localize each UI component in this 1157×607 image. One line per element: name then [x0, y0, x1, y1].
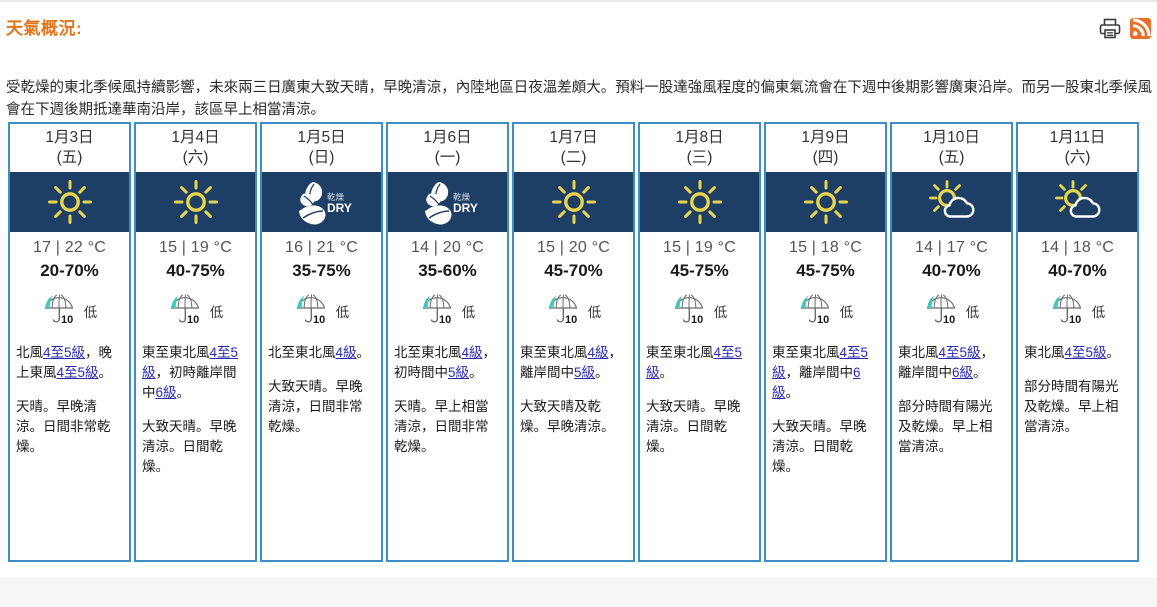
wind-text: 東至東北風 — [646, 345, 714, 360]
sunny-icon — [551, 179, 597, 225]
dry-icon: 乾燥DRY — [409, 178, 487, 226]
wind-text: 。 — [99, 365, 113, 380]
forecast-weekday: (日) — [264, 148, 379, 168]
temperature-range: 15 | 20 °C — [514, 232, 633, 259]
wind-force-link[interactable]: 5級 — [448, 365, 469, 380]
wind-force-link[interactable]: 6級 — [952, 365, 973, 380]
uv-index-row: 10低 — [136, 287, 255, 339]
weather-icon-band — [1018, 172, 1137, 232]
wind-force-link[interactable]: 6級 — [156, 385, 177, 400]
svg-text:10: 10 — [61, 314, 73, 325]
temperature-range: 16 | 21 °C — [262, 232, 381, 259]
forecast-weekday: (四) — [768, 148, 883, 168]
day-forecast-card[interactable]: 1月5日(日)乾燥DRY16 | 21 °C35-75%10低北至東北風4級。大… — [260, 122, 383, 562]
forecast-date-value: 1月8日 — [642, 128, 757, 148]
svg-text:10: 10 — [439, 314, 451, 325]
humidity-range: 35-75% — [262, 259, 381, 287]
svg-text:10: 10 — [187, 314, 199, 325]
wind-text: 。 — [595, 365, 609, 380]
svg-text:DRY: DRY — [453, 201, 478, 215]
header-icon-group — [1099, 18, 1151, 39]
wind-text: 東至東北風 — [772, 345, 840, 360]
weather-forecast-page: 天氣概況: 受乾燥的東北季候風持續影響，未 — [0, 0, 1157, 606]
uv-level-label: 低 — [84, 301, 98, 321]
forecast-description-block: 北至東北風4級。大致天晴。早晚清涼，日間非常乾燥。 — [262, 339, 381, 445]
forecast-weekday: (五) — [894, 148, 1009, 168]
bottom-band — [0, 578, 1157, 607]
forecast-date: 1月5日(日) — [262, 124, 381, 172]
wind-description: 東至東北風4至5級。 — [646, 343, 753, 383]
uv-level-label: 低 — [588, 301, 602, 321]
day-forecast-card[interactable]: 1月8日(三)15 | 19 °C45-75%10低東至東北風4至5級。大致天晴… — [638, 122, 761, 562]
uv-index-row: 10低 — [10, 287, 129, 339]
weather-description: 天晴。早上相當清涼，日間非常乾燥。 — [394, 397, 501, 457]
wind-text: 北至東北風 — [268, 345, 336, 360]
wind-description: 北至東北風4級。 — [268, 343, 375, 363]
top-divider — [0, 0, 1157, 2]
forecast-date-value: 1月9日 — [768, 128, 883, 148]
wind-description: 東至東北風4至5級，初時離岸間中6級。 — [142, 343, 249, 403]
nine-day-forecast-strip: 1月3日(五)17 | 22 °C20-70%10低北風4至5級，晚上東風4至5… — [8, 122, 1151, 562]
temperature-range: 17 | 22 °C — [10, 232, 129, 259]
temperature-range: 15 | 18 °C — [766, 232, 885, 259]
day-forecast-card[interactable]: 1月9日(四)15 | 18 °C45-75%10低東至東北風4至5級，離岸間中… — [764, 122, 887, 562]
day-forecast-card[interactable]: 1月7日(二)15 | 20 °C45-70%10低東至東北風4級，離岸間中5級… — [512, 122, 635, 562]
forecast-description-block: 東北風4至5級。部分時間有陽光及乾燥。早上相當清涼。 — [1018, 339, 1137, 445]
wind-text: 。 — [786, 385, 800, 400]
forecast-description-block: 北風4至5級，晚上東風4至5級。天晴。早晚清涼。日間非常乾燥。 — [10, 339, 129, 465]
wind-text: 。 — [973, 365, 987, 380]
wind-text: 。 — [1107, 345, 1121, 360]
forecast-description-block: 東北風4至5級，離岸間中6級。部分時間有陽光及乾燥。早上相當清涼。 — [892, 339, 1011, 465]
weather-icon-band — [10, 172, 129, 232]
wind-text: 。 — [177, 385, 191, 400]
dry-icon: 乾燥DRY — [283, 178, 361, 226]
forecast-date-value: 1月11日 — [1020, 128, 1135, 148]
weather-description: 大致天晴。早晚清涼。日間乾燥。 — [772, 417, 879, 477]
umbrella-icon: 10 — [672, 293, 708, 330]
weather-description: 部分時間有陽光及乾燥。早上相當清涼。 — [898, 397, 1005, 457]
forecast-date-value: 1月5日 — [264, 128, 379, 148]
wind-description: 東至東北風4至5級，離岸間中6級。 — [772, 343, 879, 403]
wind-text: 北至東北風 — [394, 345, 462, 360]
forecast-date: 1月4日(六) — [136, 124, 255, 172]
wind-description: 東至東北風4級，離岸間中5級。 — [520, 343, 627, 383]
uv-index-row: 10低 — [514, 287, 633, 339]
forecast-weekday: (五) — [12, 148, 127, 168]
sunny-icon — [47, 179, 93, 225]
day-forecast-card[interactable]: 1月10日(五)14 | 17 °C40-70%10低東北風4至5級，離岸間中6… — [890, 122, 1013, 562]
svg-text:10: 10 — [691, 314, 703, 325]
day-forecast-card[interactable]: 1月6日(一)乾燥DRY14 | 20 °C35-60%10低北至東北風4級，初… — [386, 122, 509, 562]
wind-force-link[interactable]: 4至5級 — [57, 365, 99, 380]
wind-force-link[interactable]: 4級 — [462, 345, 483, 360]
sunny-icon — [173, 179, 219, 225]
weather-icon-band — [514, 172, 633, 232]
forecast-weekday: (六) — [1020, 148, 1135, 168]
svg-text:10: 10 — [817, 314, 829, 325]
page-title: 天氣概況: — [6, 14, 82, 39]
printer-icon[interactable] — [1099, 18, 1121, 39]
forecast-date: 1月6日(一) — [388, 124, 507, 172]
humidity-range: 40-70% — [1018, 259, 1137, 287]
umbrella-icon: 10 — [1050, 293, 1086, 330]
weather-icon-band — [640, 172, 759, 232]
temperature-range: 15 | 19 °C — [136, 232, 255, 259]
forecast-description-block: 東至東北風4至5級，初時離岸間中6級。大致天晴。早晚清涼。日間乾燥。 — [136, 339, 255, 485]
weather-icon-band — [136, 172, 255, 232]
partly-cloudy-icon — [1051, 179, 1105, 225]
weather-summary-text: 受乾燥的東北季候風持續影響，未來兩三日廣東大致天晴，早晚清涼，內陸地區日夜溫差頗… — [6, 77, 1152, 121]
wind-description: 東北風4至5級。 — [1024, 343, 1131, 363]
forecast-date: 1月3日(五) — [10, 124, 129, 172]
humidity-range: 45-70% — [514, 259, 633, 287]
day-forecast-card[interactable]: 1月3日(五)17 | 22 °C20-70%10低北風4至5級，晚上東風4至5… — [8, 122, 131, 562]
wind-force-link[interactable]: 4至5級 — [1065, 345, 1107, 360]
humidity-range: 40-70% — [892, 259, 1011, 287]
umbrella-icon: 10 — [798, 293, 834, 330]
svg-text:10: 10 — [943, 314, 955, 325]
wind-force-link[interactable]: 4級 — [588, 345, 609, 360]
uv-level-label: 低 — [210, 301, 224, 321]
wind-text: ，離岸間中 — [786, 365, 854, 380]
wind-text: 北風 — [16, 345, 43, 360]
uv-index-row: 10低 — [262, 287, 381, 339]
uv-level-label: 低 — [462, 301, 476, 321]
forecast-date-value: 1月6日 — [390, 128, 505, 148]
weather-icon-band: 乾燥DRY — [262, 172, 381, 232]
umbrella-icon: 10 — [546, 293, 582, 330]
sunny-icon — [677, 179, 723, 225]
forecast-description-block: 東至東北風4至5級。大致天晴。早晚清涼。日間乾燥。 — [640, 339, 759, 465]
humidity-range: 45-75% — [640, 259, 759, 287]
weather-description: 天晴。早晚清涼。日間非常乾燥。 — [16, 397, 123, 457]
uv-level-label: 低 — [336, 301, 350, 321]
wind-force-link[interactable]: 4至5級 — [43, 345, 85, 360]
umbrella-icon: 10 — [294, 293, 330, 330]
wind-force-link[interactable]: 4至5級 — [939, 345, 981, 360]
forecast-date: 1月7日(二) — [514, 124, 633, 172]
partly-cloudy-icon — [925, 179, 979, 225]
day-forecast-card[interactable]: 1月4日(六)15 | 19 °C40-75%10低東至東北風4至5級，初時離岸… — [134, 122, 257, 562]
uv-level-label: 低 — [1092, 301, 1106, 321]
wind-text: 。 — [357, 345, 371, 360]
forecast-weekday: (二) — [516, 148, 631, 168]
forecast-date: 1月11日(六) — [1018, 124, 1137, 172]
svg-text:10: 10 — [565, 314, 577, 325]
umbrella-icon: 10 — [42, 293, 78, 330]
uv-level-label: 低 — [840, 301, 854, 321]
weather-description: 大致天晴。早晚清涼。日間乾燥。 — [142, 417, 249, 477]
humidity-range: 45-75% — [766, 259, 885, 287]
sunny-icon — [803, 179, 849, 225]
weather-icon-band — [766, 172, 885, 232]
forecast-weekday: (一) — [390, 148, 505, 168]
weather-description: 大致天晴。早晚清涼，日間非常乾燥。 — [268, 377, 375, 437]
umbrella-icon: 10 — [420, 293, 456, 330]
wind-text: 東北風 — [1024, 345, 1065, 360]
weather-icon-band: 乾燥DRY — [388, 172, 507, 232]
wind-force-link[interactable]: 5級 — [574, 365, 595, 380]
humidity-range: 40-75% — [136, 259, 255, 287]
svg-text:DRY: DRY — [327, 201, 352, 215]
wind-text: 東北風 — [898, 345, 939, 360]
wind-text: 東至東北風 — [142, 345, 210, 360]
rss-icon[interactable] — [1130, 18, 1151, 39]
forecast-date: 1月10日(五) — [892, 124, 1011, 172]
uv-level-label: 低 — [966, 301, 980, 321]
temperature-range: 15 | 19 °C — [640, 232, 759, 259]
forecast-description-block: 東至東北風4級，離岸間中5級。大致天晴及乾燥。早晚清涼。 — [514, 339, 633, 445]
weather-description: 部分時間有陽光及乾燥。早上相當清涼。 — [1024, 377, 1131, 437]
umbrella-icon: 10 — [168, 293, 204, 330]
forecast-date: 1月9日(四) — [766, 124, 885, 172]
forecast-date-value: 1月10日 — [894, 128, 1009, 148]
wind-text: 東至東北風 — [520, 345, 588, 360]
forecast-description-block: 北至東北風4級，初時間中5級。天晴。早上相當清涼，日間非常乾燥。 — [388, 339, 507, 465]
wind-description: 北至東北風4級，初時間中5級。 — [394, 343, 501, 383]
uv-index-row: 10低 — [892, 287, 1011, 339]
uv-index-row: 10低 — [640, 287, 759, 339]
forecast-weekday: (三) — [642, 148, 757, 168]
temperature-range: 14 | 17 °C — [892, 232, 1011, 259]
svg-text:10: 10 — [313, 314, 325, 325]
section-header: 天氣概況: — [0, 14, 1157, 54]
uv-index-row: 10低 — [766, 287, 885, 339]
humidity-range: 20-70% — [10, 259, 129, 287]
weather-description: 大致天晴。早晚清涼。日間乾燥。 — [646, 397, 753, 457]
forecast-date: 1月8日(三) — [640, 124, 759, 172]
weather-icon-band — [892, 172, 1011, 232]
wind-description: 東北風4至5級，離岸間中6級。 — [898, 343, 1005, 383]
forecast-date-value: 1月4日 — [138, 128, 253, 148]
forecast-date-value: 1月7日 — [516, 128, 631, 148]
umbrella-icon: 10 — [924, 293, 960, 330]
forecast-weekday: (六) — [138, 148, 253, 168]
wind-description: 北風4至5級，晚上東風4至5級。 — [16, 343, 123, 383]
uv-index-row: 10低 — [1018, 287, 1137, 339]
wind-force-link[interactable]: 4級 — [336, 345, 357, 360]
uv-index-row: 10低 — [388, 287, 507, 339]
temperature-range: 14 | 20 °C — [388, 232, 507, 259]
forecast-description-block: 東至東北風4至5級，離岸間中6級。大致天晴。早晚清涼。日間乾燥。 — [766, 339, 885, 485]
forecast-date-value: 1月3日 — [12, 128, 127, 148]
uv-level-label: 低 — [714, 301, 728, 321]
humidity-range: 35-60% — [388, 259, 507, 287]
weather-description: 大致天晴及乾燥。早晚清涼。 — [520, 397, 627, 437]
temperature-range: 14 | 18 °C — [1018, 232, 1137, 259]
svg-text:10: 10 — [1069, 314, 1081, 325]
wind-text: 。 — [469, 365, 483, 380]
wind-text: 。 — [660, 365, 674, 380]
day-forecast-card[interactable]: 1月11日(六)14 | 18 °C40-70%10低東北風4至5級。部分時間有… — [1016, 122, 1139, 562]
